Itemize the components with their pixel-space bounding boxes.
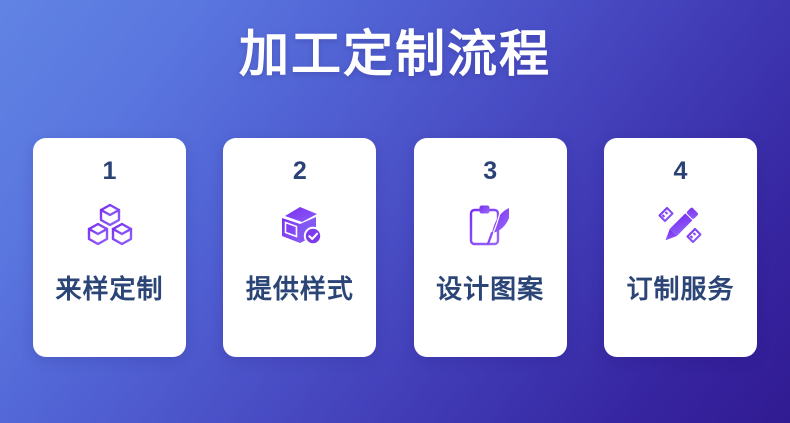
page-title: 加工定制流程 [0, 24, 790, 84]
step-card-4[interactable]: 4 [604, 138, 757, 357]
step-label: 订制服务 [626, 273, 734, 305]
steps-row: 1 [33, 138, 757, 357]
step-label: 提供样式 [246, 273, 354, 305]
step-card-3[interactable]: 3 [414, 138, 567, 357]
box-check-icon [272, 199, 328, 251]
step-number: 3 [483, 157, 497, 185]
step-card-2[interactable]: 2 [223, 138, 376, 357]
step-number: 2 [293, 157, 307, 185]
cubes-icon [82, 199, 138, 251]
step-label: 设计图案 [436, 273, 544, 305]
pencil-design-icon [652, 199, 708, 251]
step-label: 来样定制 [55, 273, 163, 305]
step-number: 4 [674, 157, 688, 185]
clipboard-quill-icon [462, 199, 518, 251]
step-number: 1 [103, 157, 117, 185]
step-card-1[interactable]: 1 [33, 138, 186, 357]
process-poster: 加工定制流程 1 [0, 0, 790, 423]
